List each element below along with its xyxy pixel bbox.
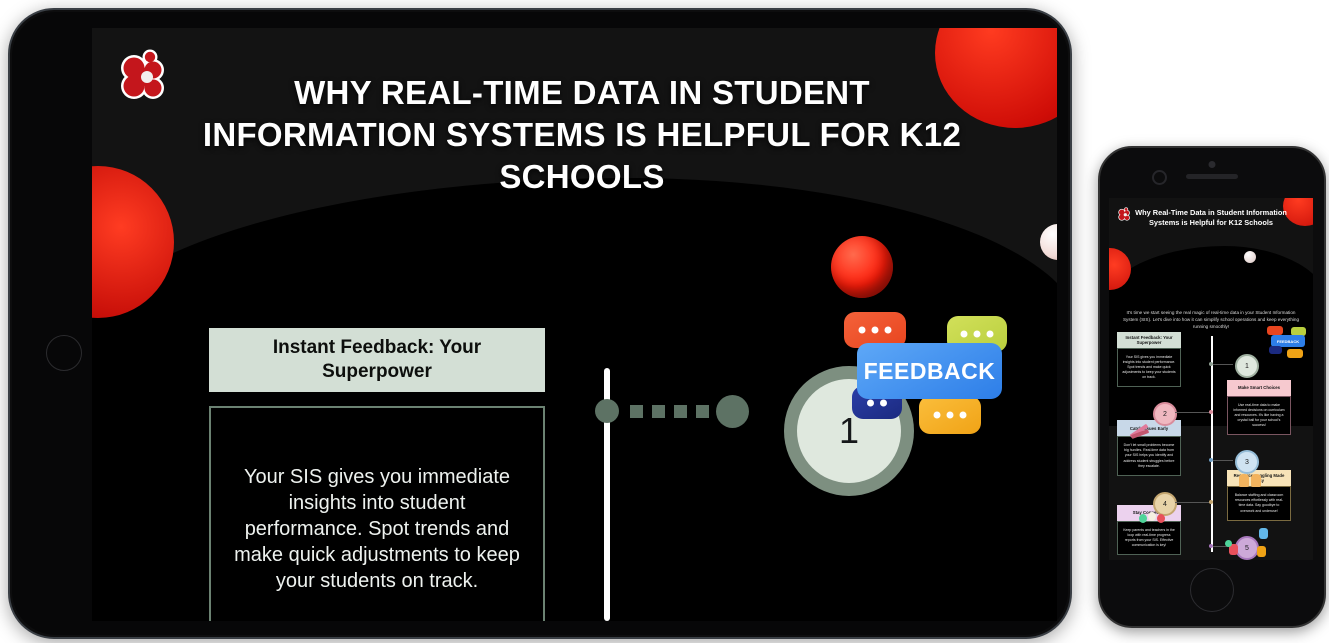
home-circle-icon[interactable] bbox=[46, 335, 82, 371]
phone-red-blob-c-logo-icon bbox=[1117, 207, 1132, 222]
phone-step-badge-3[interactable]: 3 bbox=[1235, 450, 1259, 474]
phone-white-sphere-decor bbox=[1244, 251, 1256, 263]
phone-page-title: Why Real-Time Data in Student Informatio… bbox=[1135, 208, 1287, 228]
bubble-feedback-label: FEEDBACK bbox=[857, 343, 1002, 399]
phone-red-circle-top-right bbox=[1283, 198, 1313, 226]
phone-mockup: Why Real-Time Data in Student Informatio… bbox=[1098, 146, 1326, 628]
step-heading-card: Instant Feedback: Your Superpower bbox=[209, 328, 545, 392]
phone-screen: Why Real-Time Data in Student Informatio… bbox=[1109, 198, 1313, 560]
step-body-text: Your SIS gives you immediate insights in… bbox=[233, 464, 521, 594]
phone-right-column: Make Smart Choices Use real-time data to… bbox=[1227, 380, 1291, 526]
phone-balloons-icon bbox=[1139, 512, 1165, 526]
list-item[interactable]: Make Smart Choices Use real-time data to… bbox=[1227, 380, 1291, 435]
speaker-grille-icon bbox=[1186, 174, 1238, 179]
phone-step-heading: Instant Feedback: Your Superpower bbox=[1117, 332, 1181, 348]
phone-raised-hands-icon bbox=[1239, 472, 1263, 488]
phone-step-body: Don't let small problems become big hurd… bbox=[1117, 436, 1181, 475]
phone-step-heading: Make Smart Choices bbox=[1227, 380, 1291, 396]
white-sphere-decor bbox=[1040, 224, 1057, 260]
red-blob-c-logo-icon bbox=[116, 48, 172, 104]
phone-people-network-icon bbox=[1223, 528, 1267, 558]
phone-connector bbox=[1175, 412, 1211, 413]
phone-connector bbox=[1213, 364, 1233, 365]
screenshot-stage: WHY REAL-TIME DATA IN STUDENT INFORMATIO… bbox=[0, 0, 1329, 643]
red-sphere-decor bbox=[831, 236, 893, 298]
phone-rail-dot bbox=[1209, 500, 1213, 504]
tablet-screen: WHY REAL-TIME DATA IN STUDENT INFORMATIO… bbox=[92, 28, 1057, 621]
step-body-card: Your SIS gives you immediate insights in… bbox=[209, 406, 545, 621]
phone-step-body: Use real-time data to make informed deci… bbox=[1227, 396, 1291, 435]
speech-bubbles-icon: FEEDBACK bbox=[827, 308, 1017, 453]
front-camera-icon bbox=[1152, 170, 1167, 185]
feedback-text: FEEDBACK bbox=[864, 358, 996, 385]
timeline-origin-dot[interactable] bbox=[595, 399, 619, 423]
phone-connector bbox=[1213, 460, 1233, 461]
timeline-node-dot[interactable] bbox=[716, 395, 749, 428]
phone-step-badge-1[interactable]: 1 bbox=[1235, 354, 1259, 378]
phone-rail-dot bbox=[1209, 410, 1213, 414]
tablet-mockup: WHY REAL-TIME DATA IN STUDENT INFORMATIO… bbox=[8, 8, 1072, 639]
phone-connector bbox=[1175, 502, 1211, 503]
list-item[interactable]: Instant Feedback: Your Superpower Your S… bbox=[1117, 332, 1181, 387]
phone-rail-dot bbox=[1209, 458, 1213, 462]
phone-steps-grid: Instant Feedback: Your Superpower Your S… bbox=[1117, 332, 1305, 556]
page-title: WHY REAL-TIME DATA IN STUDENT INFORMATIO… bbox=[192, 72, 972, 199]
phone-step-body: Balance staffing and classroom resources… bbox=[1227, 486, 1291, 520]
phone-timeline-rail bbox=[1211, 336, 1213, 552]
phone-rail-dot bbox=[1209, 362, 1213, 366]
phone-step-badge-2[interactable]: 2 bbox=[1153, 402, 1177, 426]
bubble-yellow bbox=[919, 396, 981, 434]
proximity-sensor-icon bbox=[1209, 161, 1216, 168]
phone-home-circle-icon[interactable] bbox=[1190, 568, 1234, 612]
phone-speech-bubbles-icon: FEEDBACK bbox=[1265, 326, 1313, 362]
phone-rail-dot bbox=[1209, 544, 1213, 548]
phone-step-body: Your SIS gives you immediate insights in… bbox=[1117, 348, 1181, 387]
phone-pencil-ruler-icon bbox=[1129, 424, 1151, 438]
